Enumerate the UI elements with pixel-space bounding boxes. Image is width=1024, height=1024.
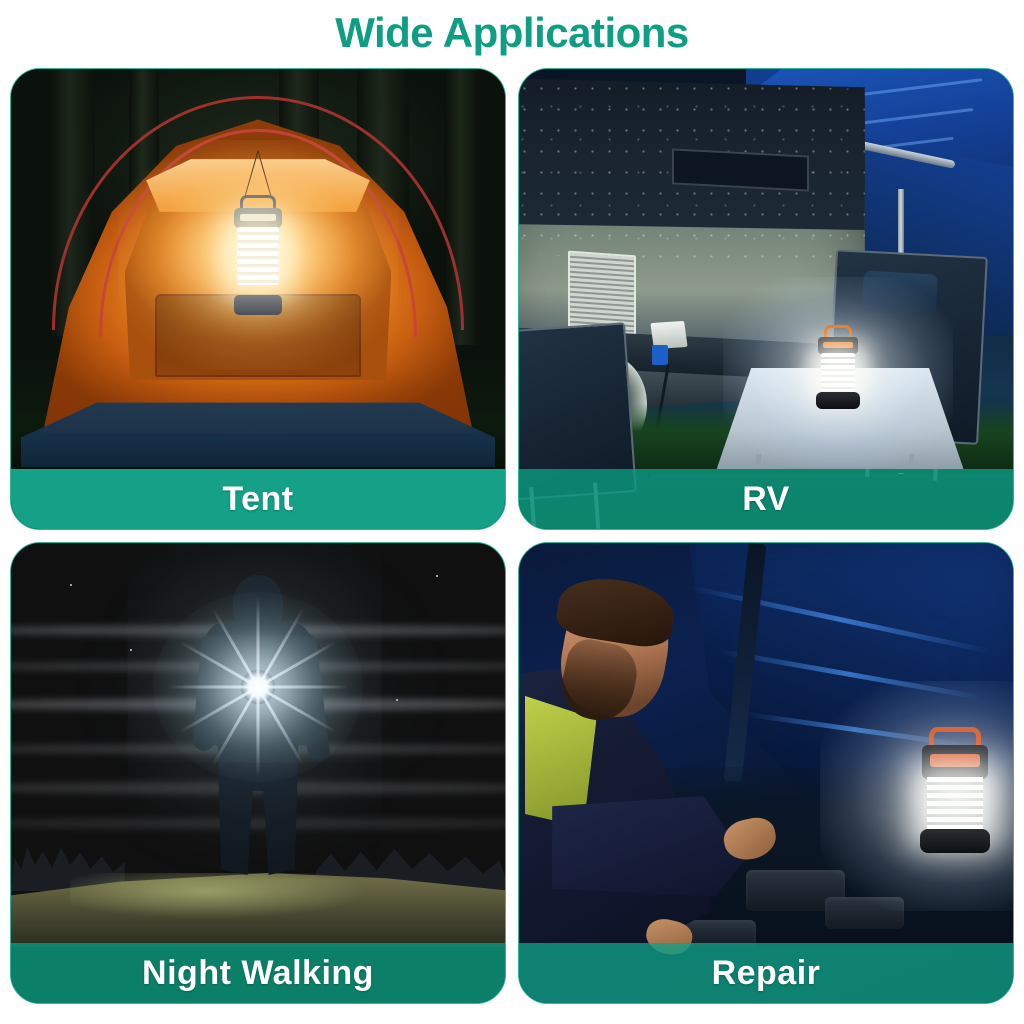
repair-scene-image <box>519 543 1013 1003</box>
panel-tent[interactable]: Tent <box>10 68 506 530</box>
lantern-base <box>234 295 282 315</box>
application-panel-grid: Tent <box>10 68 1014 1008</box>
panel-night-walking[interactable]: Night Walking <box>10 542 506 1004</box>
lantern-base <box>920 829 990 853</box>
lantern-top-cap <box>234 208 282 228</box>
table-camping-lantern <box>815 325 861 409</box>
lantern-body <box>228 195 288 315</box>
wide-applications-infographic: Wide Applications <box>0 0 1024 1024</box>
engine-component <box>825 897 904 929</box>
tent-groundsheet <box>21 397 495 467</box>
panel-caption-night-walking: Night Walking <box>11 943 505 1003</box>
rv-power-plug <box>652 345 668 365</box>
ground-light-pool <box>70 873 366 919</box>
tent-scene-image <box>11 69 505 529</box>
lantern-led-tube <box>927 777 983 833</box>
work-lantern <box>922 727 988 853</box>
mechanic-arm <box>552 796 746 896</box>
lantern-base <box>816 392 860 409</box>
person-silhouette <box>191 575 325 875</box>
lantern-starburst-flare <box>250 679 266 695</box>
lantern-led-tube <box>821 353 855 391</box>
page-title: Wide Applications <box>0 6 1024 60</box>
panel-caption-repair: Repair <box>519 943 1013 1003</box>
panel-repair[interactable]: Repair <box>518 542 1014 1004</box>
panel-caption-rv: RV <box>519 469 1013 529</box>
night-walking-scene-image <box>11 543 505 1003</box>
panel-caption-tent: Tent <box>11 469 505 529</box>
rv-scene-image <box>519 69 1013 529</box>
panel-rv[interactable]: RV <box>518 68 1014 530</box>
chair-headrest <box>862 271 938 315</box>
rv-window <box>672 148 809 191</box>
flare-core <box>241 670 275 704</box>
star <box>130 649 132 651</box>
lantern-top-cap <box>818 337 858 354</box>
lantern-top-cap <box>922 745 988 779</box>
hanging-camping-lantern <box>228 195 288 315</box>
mechanic-person <box>519 580 796 966</box>
lantern-led-tube <box>237 227 279 285</box>
